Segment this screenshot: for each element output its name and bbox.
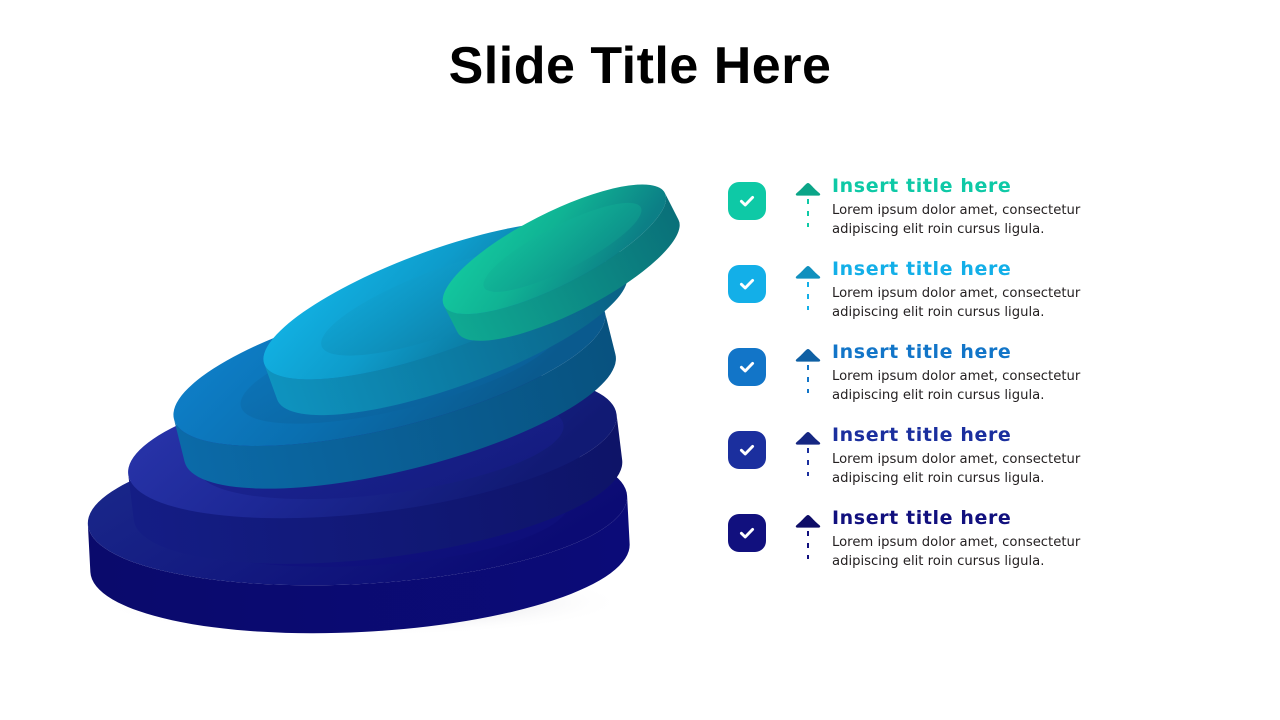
up-arrow-dashed-icon <box>788 346 828 402</box>
list-item-title: Insert title here <box>832 508 1122 530</box>
list-item[interactable]: Insert title here Lorem ipsum dolor amet… <box>726 168 1126 248</box>
check-badge-icon[interactable] <box>728 514 766 552</box>
list-item-text: Insert title here Lorem ipsum dolor amet… <box>832 425 1122 488</box>
list-item-text: Insert title here Lorem ipsum dolor amet… <box>832 259 1122 322</box>
page-title: Slide Title Here <box>0 38 1280 95</box>
list-item-text: Insert title here Lorem ipsum dolor amet… <box>832 342 1122 405</box>
list-item-title: Insert title here <box>832 176 1122 198</box>
list-item[interactable]: Insert title here Lorem ipsum dolor amet… <box>726 334 1126 414</box>
up-arrow-dashed-icon <box>788 429 828 485</box>
up-arrow-dashed-icon <box>788 512 828 568</box>
check-badge-icon[interactable] <box>728 431 766 469</box>
stacked-discs-graphic <box>60 140 760 640</box>
list-item-text: Insert title here Lorem ipsum dolor amet… <box>832 176 1122 239</box>
list-item[interactable]: Insert title here Lorem ipsum dolor amet… <box>726 500 1126 580</box>
up-arrow-dashed-icon <box>788 180 828 236</box>
list-item[interactable]: Insert title here Lorem ipsum dolor amet… <box>726 251 1126 331</box>
check-badge-icon[interactable] <box>728 265 766 303</box>
list-item-body: Lorem ipsum dolor amet, consectetur adip… <box>832 533 1104 571</box>
list-item-body: Lorem ipsum dolor amet, consectetur adip… <box>832 450 1104 488</box>
check-badge-icon[interactable] <box>728 182 766 220</box>
list-item-body: Lorem ipsum dolor amet, consectetur adip… <box>832 367 1104 405</box>
up-arrow-dashed-icon <box>788 263 828 319</box>
bullet-list: Insert title here Lorem ipsum dolor amet… <box>726 168 1126 588</box>
list-item-body: Lorem ipsum dolor amet, consectetur adip… <box>832 201 1104 239</box>
list-item-text: Insert title here Lorem ipsum dolor amet… <box>832 508 1122 571</box>
list-item-body: Lorem ipsum dolor amet, consectetur adip… <box>832 284 1104 322</box>
check-badge-icon[interactable] <box>728 348 766 386</box>
list-item-title: Insert title here <box>832 259 1122 281</box>
list-item[interactable]: Insert title here Lorem ipsum dolor amet… <box>726 417 1126 497</box>
list-item-title: Insert title here <box>832 425 1122 447</box>
list-item-title: Insert title here <box>832 342 1122 364</box>
